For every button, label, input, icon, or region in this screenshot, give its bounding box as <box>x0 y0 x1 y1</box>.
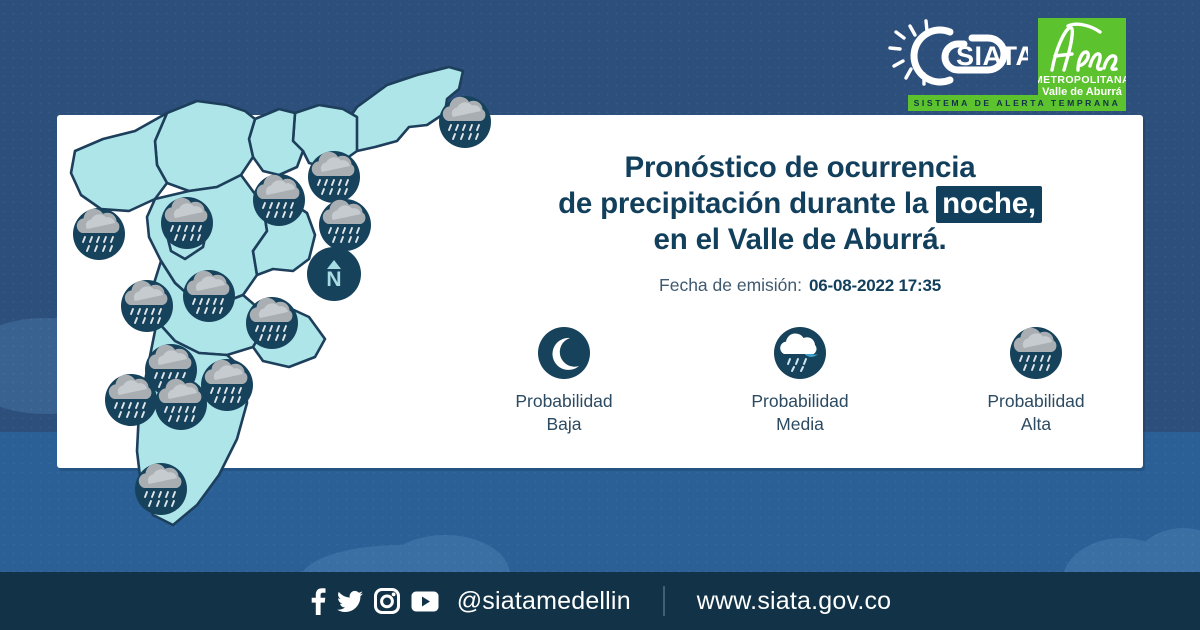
siata-tagline-text: SISTEMA DE ALERTA TEMPRANA <box>914 98 1121 108</box>
forecast-content: Pronóstico de ocurrencia de precipitació… <box>480 150 1120 436</box>
area-metropolitana-logo: METROPOLITANA Valle de Aburrá <box>1038 18 1126 104</box>
probability-legend: Probabilidad Baja <box>480 327 1120 436</box>
siata-logo: SIATA <box>888 18 1028 96</box>
social-icons <box>309 587 439 615</box>
legend-label-media: Probabilidad Media <box>751 390 848 436</box>
map-marker-group <box>73 96 491 515</box>
title-highlight-noche: noche, <box>936 186 1042 223</box>
youtube-icon[interactable] <box>411 591 439 612</box>
issue-date-row: Fecha de emisión: 06-08-2022 17:35 <box>480 275 1120 296</box>
legend-media-line1: Probabilidad <box>751 391 848 411</box>
compass-rose: N <box>307 247 361 301</box>
legend-label-baja: Probabilidad Baja <box>515 390 612 436</box>
legend-media-line2: Media <box>776 414 824 434</box>
title-line-2-text: de precipitación durante la <box>558 187 928 220</box>
moon-icon <box>538 327 590 379</box>
legend-item-baja: Probabilidad Baja <box>489 327 639 436</box>
compass-north-label: N <box>326 270 341 289</box>
logo-group: SIATA METROPOLITANA Valle de Aburrá <box>888 18 1126 104</box>
issue-date-value: 06-08-2022 17:35 <box>809 276 941 296</box>
cloud-moon-rain-icon <box>774 327 826 379</box>
legend-baja-line1: Probabilidad <box>515 391 612 411</box>
footer-divider <box>663 586 665 616</box>
website-url[interactable]: www.siata.gov.co <box>697 587 891 616</box>
footer-bar: @siatamedellin www.siata.gov.co <box>0 572 1200 630</box>
twitter-icon[interactable] <box>337 588 363 614</box>
title-line-1: Pronóstico de ocurrencia <box>480 150 1120 186</box>
legend-alta-line2: Alta <box>1021 414 1051 434</box>
valle-de-aburra-map <box>57 55 477 575</box>
page-title: Pronóstico de ocurrencia de precipitació… <box>480 150 1120 258</box>
legend-item-alta: Probabilidad Alta <box>961 327 1111 436</box>
social-handle[interactable]: @siatamedellin <box>457 587 631 616</box>
facebook-icon[interactable] <box>309 587 326 615</box>
legend-alta-line1: Probabilidad <box>987 391 1084 411</box>
infographic-canvas: SIATA METROPOLITANA Valle de Aburrá SIST… <box>0 0 1200 630</box>
title-line-2: de precipitación durante la noche, <box>480 186 1120 222</box>
legend-item-media: Probabilidad Media <box>725 327 875 436</box>
area-script-wordmark <box>1038 20 1126 78</box>
instagram-icon[interactable] <box>374 588 400 614</box>
legend-baja-line2: Baja <box>546 414 581 434</box>
svg-text:SIATA: SIATA <box>956 41 1028 71</box>
siata-tagline-bar: SISTEMA DE ALERTA TEMPRANA <box>908 95 1126 111</box>
legend-label-alta: Probabilidad Alta <box>987 390 1084 436</box>
issue-date-label: Fecha de emisión: <box>659 275 802 296</box>
title-line-3: en el Valle de Aburrá. <box>480 222 1120 258</box>
cloud-heavy-rain-icon <box>1010 327 1062 379</box>
